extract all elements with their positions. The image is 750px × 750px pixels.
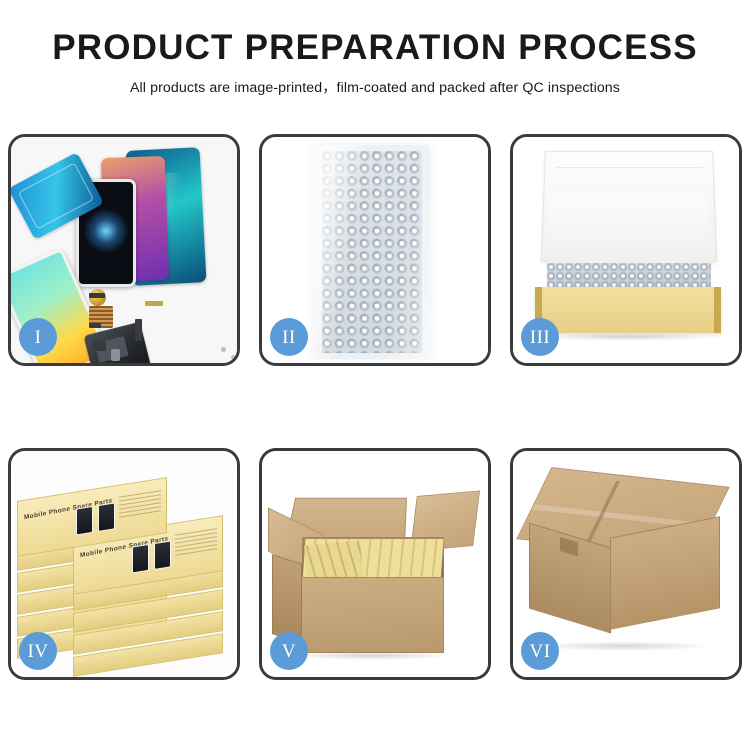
gold-connector-part	[145, 301, 163, 306]
sim-tray-part	[89, 323, 101, 328]
page-header: PRODUCT PREPARATION PROCESS All products…	[0, 0, 750, 97]
carton-side-face	[272, 554, 302, 644]
carton-right-face	[610, 516, 720, 629]
side-button-part	[135, 319, 142, 341]
screw-part	[221, 347, 226, 352]
step-badge-6: VI	[521, 632, 559, 670]
speaker-part	[111, 349, 120, 361]
box-artwork-phone	[98, 502, 115, 532]
bubble-pouch	[314, 145, 430, 359]
step-panel-1: I	[8, 134, 240, 366]
step-panel-3: III	[510, 134, 742, 366]
step-badge-2: II	[270, 318, 308, 356]
box-spec-lines	[119, 490, 161, 521]
step-badge-4: IV	[19, 632, 57, 670]
step-panel-4: Mobile Phone Spare Parts Mobile Phone Sp…	[8, 448, 240, 680]
step-panel-6: VI	[510, 448, 742, 680]
step-panel-5: V	[259, 448, 491, 680]
plastic-sheen	[314, 145, 430, 359]
carton-front-face	[298, 577, 444, 653]
page-title: PRODUCT PREPARATION PROCESS	[0, 30, 750, 67]
box-drop-shadow	[543, 333, 713, 341]
carton-drop-shadow	[288, 651, 454, 660]
product-preparation-process-page: PRODUCT PREPARATION PROCESS All products…	[0, 0, 750, 750]
step-badge-5: V	[270, 632, 308, 670]
carton-drop-shadow	[535, 641, 713, 651]
box-artwork-phone	[154, 540, 171, 570]
mailer-box-front	[535, 287, 721, 333]
step-panel-2: II	[259, 134, 491, 366]
screw-part	[231, 355, 236, 360]
box-artwork-phone	[76, 506, 93, 536]
flex-cable-part	[89, 293, 105, 298]
box-artwork-phone	[132, 544, 149, 574]
box-spec-lines	[175, 528, 217, 559]
process-steps-grid: I II III	[8, 134, 742, 734]
camera-module-part	[93, 341, 106, 351]
step-badge-1: I	[19, 318, 57, 356]
page-subtitle: All products are image-printed，film-coat…	[0, 77, 750, 97]
step-badge-3: III	[521, 318, 559, 356]
spare-parts-group	[89, 289, 237, 363]
foam-liner	[549, 195, 709, 267]
